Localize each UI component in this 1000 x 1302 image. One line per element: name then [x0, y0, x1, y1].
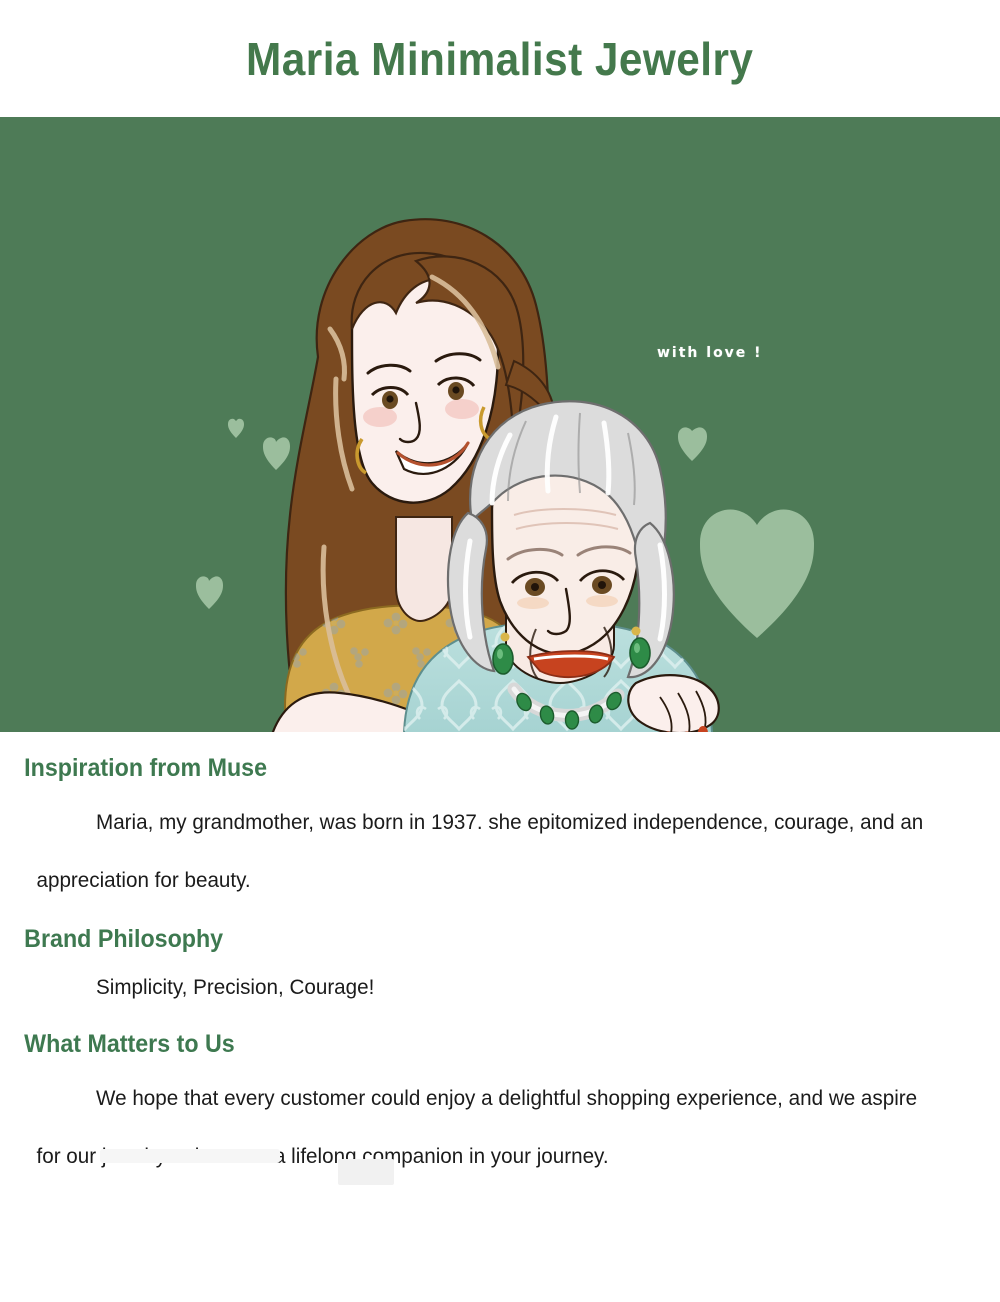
cheek-right: [445, 399, 479, 419]
brand-story-page: Maria Minimalist Jewelry: [0, 0, 1000, 1302]
paragraph-line-1: Simplicity, Precision, Courage!: [96, 975, 374, 999]
section-heading-philosophy: Brand Philosophy: [0, 925, 930, 954]
hero-caption: with love !: [657, 345, 763, 361]
page-title: Maria Minimalist Jewelry: [246, 32, 753, 86]
cheek-left: [363, 407, 397, 427]
neck-young-woman: [396, 517, 452, 621]
section-heading-what-matters: What Matters to Us: [0, 1030, 930, 1059]
section-paragraph-philosophy: Simplicity, Precision, Courage!: [0, 962, 960, 1012]
section-heading-inspiration: Inspiration from Muse: [0, 754, 930, 783]
section-paragraph-inspiration: Maria, my grandmother, was born in 1937.…: [0, 793, 960, 909]
page-edge-artifact-center: [338, 1159, 394, 1185]
page-header: Maria Minimalist Jewelry: [0, 0, 1000, 117]
page-edge-artifact-left: [100, 1149, 280, 1163]
hero-illustration: with love !: [0, 117, 1000, 732]
paragraph-line-1: We hope that every customer could enjoy …: [96, 1086, 670, 1110]
brand-story-content: Inspiration from Muse Maria, my grandmot…: [0, 754, 1000, 1185]
section-paragraph-what-matters: We hope that every customer could enjoy …: [0, 1069, 960, 1185]
hero-artwork: [0, 117, 1000, 732]
paragraph-line-1: Maria, my grandmother, was born in 1937.…: [96, 810, 627, 834]
